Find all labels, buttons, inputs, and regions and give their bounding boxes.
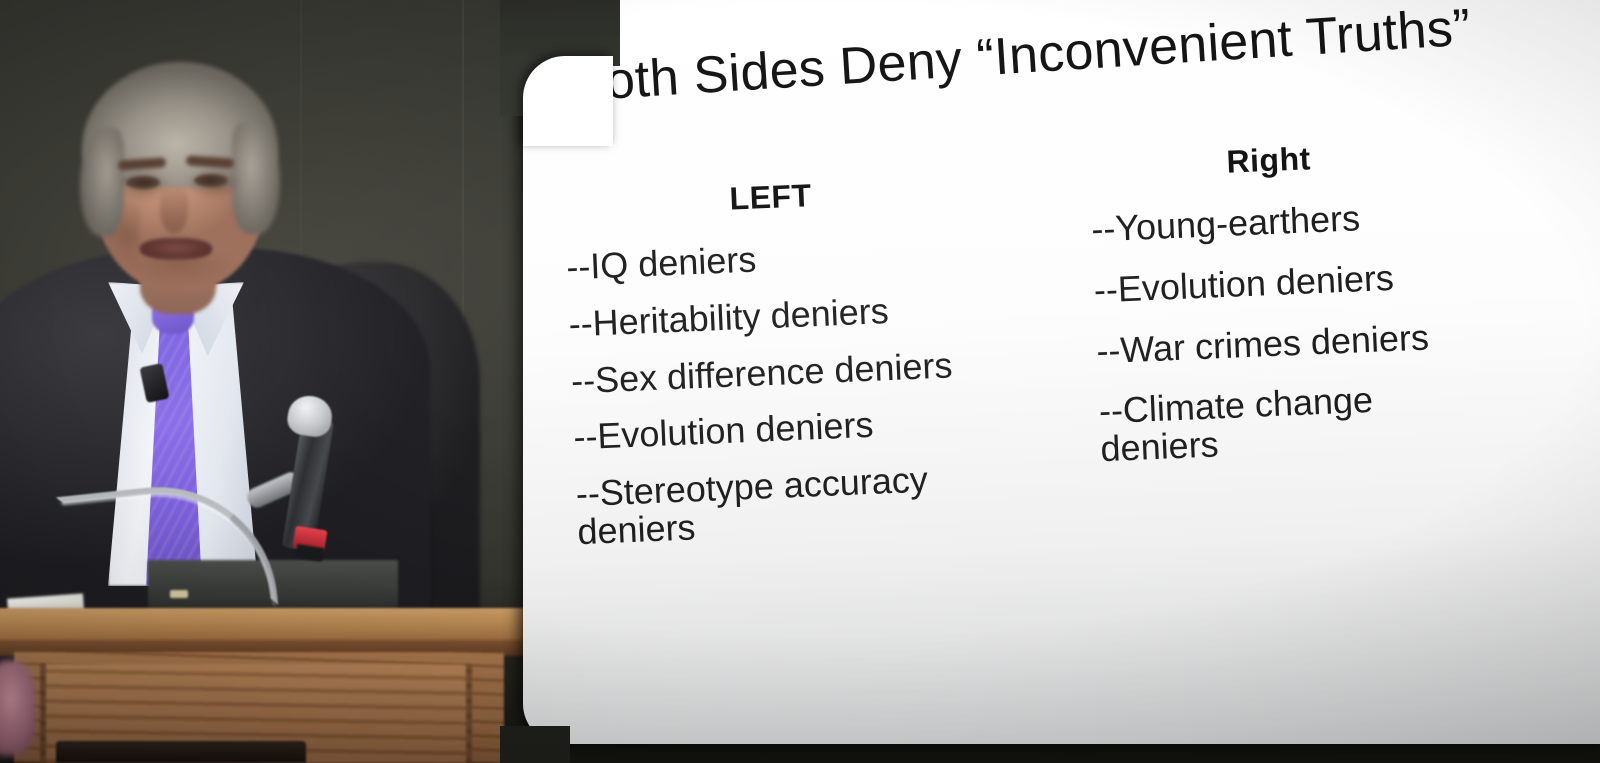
slide-bottom-left-mask xyxy=(500,726,570,763)
list-item: --War crimes deniers xyxy=(1086,313,1557,370)
eye-right xyxy=(194,174,228,187)
nose xyxy=(160,186,188,234)
slide-title: Both Sides Deny “Inconvenient Truths” xyxy=(569,0,1581,114)
list-item: --IQ deniers xyxy=(556,228,1057,287)
column-header-left: LEFT xyxy=(553,167,1054,225)
slide-corner-top-left xyxy=(523,56,613,146)
list-item: --Evolution deniers xyxy=(1083,252,1554,309)
chin-shadow xyxy=(124,258,232,288)
podium-base-shadow xyxy=(56,741,306,763)
presentation-slide: Both Sides Deny “Inconvenient Truths” LE… xyxy=(523,0,1600,744)
foreground-blur-object xyxy=(0,660,36,756)
slide-content: Both Sides Deny “Inconvenient Truths” LE… xyxy=(523,0,1600,744)
list-item: --Sex difference deniers xyxy=(560,342,1061,401)
slide-column-right: Right --Young-earthers --Evolution denie… xyxy=(1078,130,1562,491)
bullet-list-left: --IQ deniers --Heritability deniers --Se… xyxy=(556,228,1068,551)
eye-left xyxy=(126,176,160,189)
list-item: --Evolution deniers xyxy=(563,398,1064,457)
slide-column-left: LEFT --IQ deniers --Heritability deniers… xyxy=(553,167,1069,570)
list-item: --Young-earthers xyxy=(1081,191,1552,248)
mouth xyxy=(140,238,212,260)
bullet-list-right: --Young-earthers --Evolution deniers --W… xyxy=(1081,191,1561,468)
video-frame: Both Sides Deny “Inconvenient Truths” LE… xyxy=(0,0,1600,763)
list-item: --Climate change deniers xyxy=(1088,373,1561,468)
list-item: --Stereotype accuracy deniers xyxy=(565,455,1068,551)
list-item: --Heritability deniers xyxy=(558,285,1059,344)
column-header-right: Right xyxy=(1078,130,1549,187)
